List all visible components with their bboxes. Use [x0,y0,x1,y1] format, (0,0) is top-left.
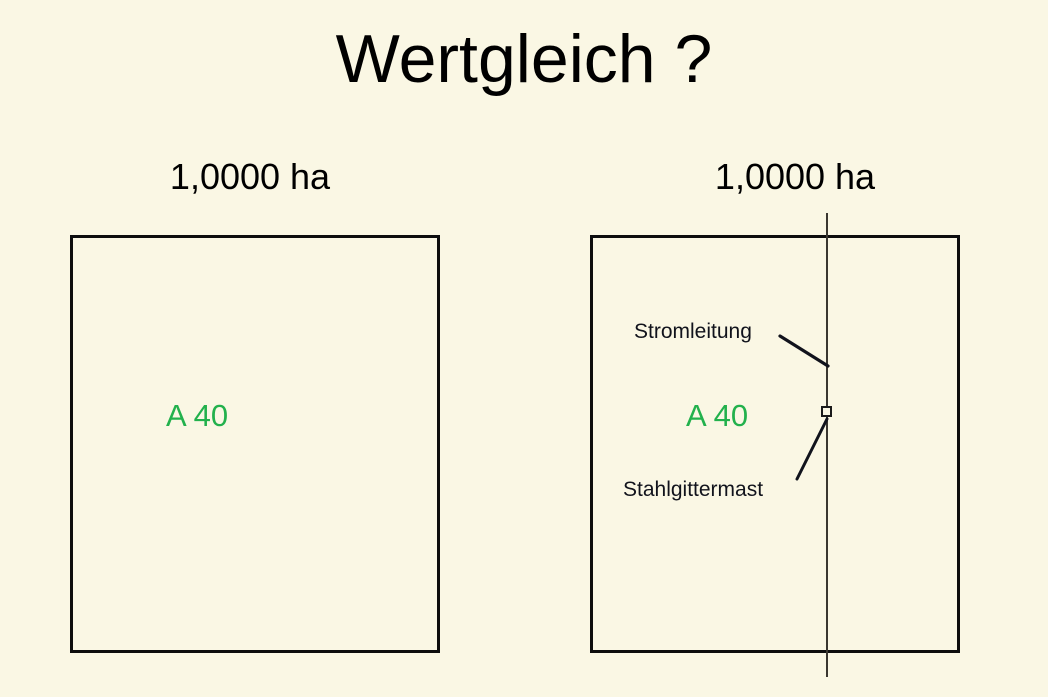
slide-canvas: Wertgleich ? 1,0000 ha A 40 1,0000 ha A … [0,0,1048,697]
power-line [826,213,828,677]
parcel-caption-right: 1,0000 ha [610,156,980,198]
pylon-marker-icon [821,406,832,417]
parcel-rectangle-left [70,235,440,653]
page-title: Wertgleich ? [0,24,1048,95]
road-label-left: A 40 [166,398,228,434]
road-label-right: A 40 [686,398,748,434]
parcel-caption-left: 1,0000 ha [65,156,435,198]
annotation-stromleitung: Stromleitung [634,320,752,344]
annotation-stahlgittermast: Stahlgittermast [623,478,763,502]
parcel-rectangle-right [590,235,960,653]
